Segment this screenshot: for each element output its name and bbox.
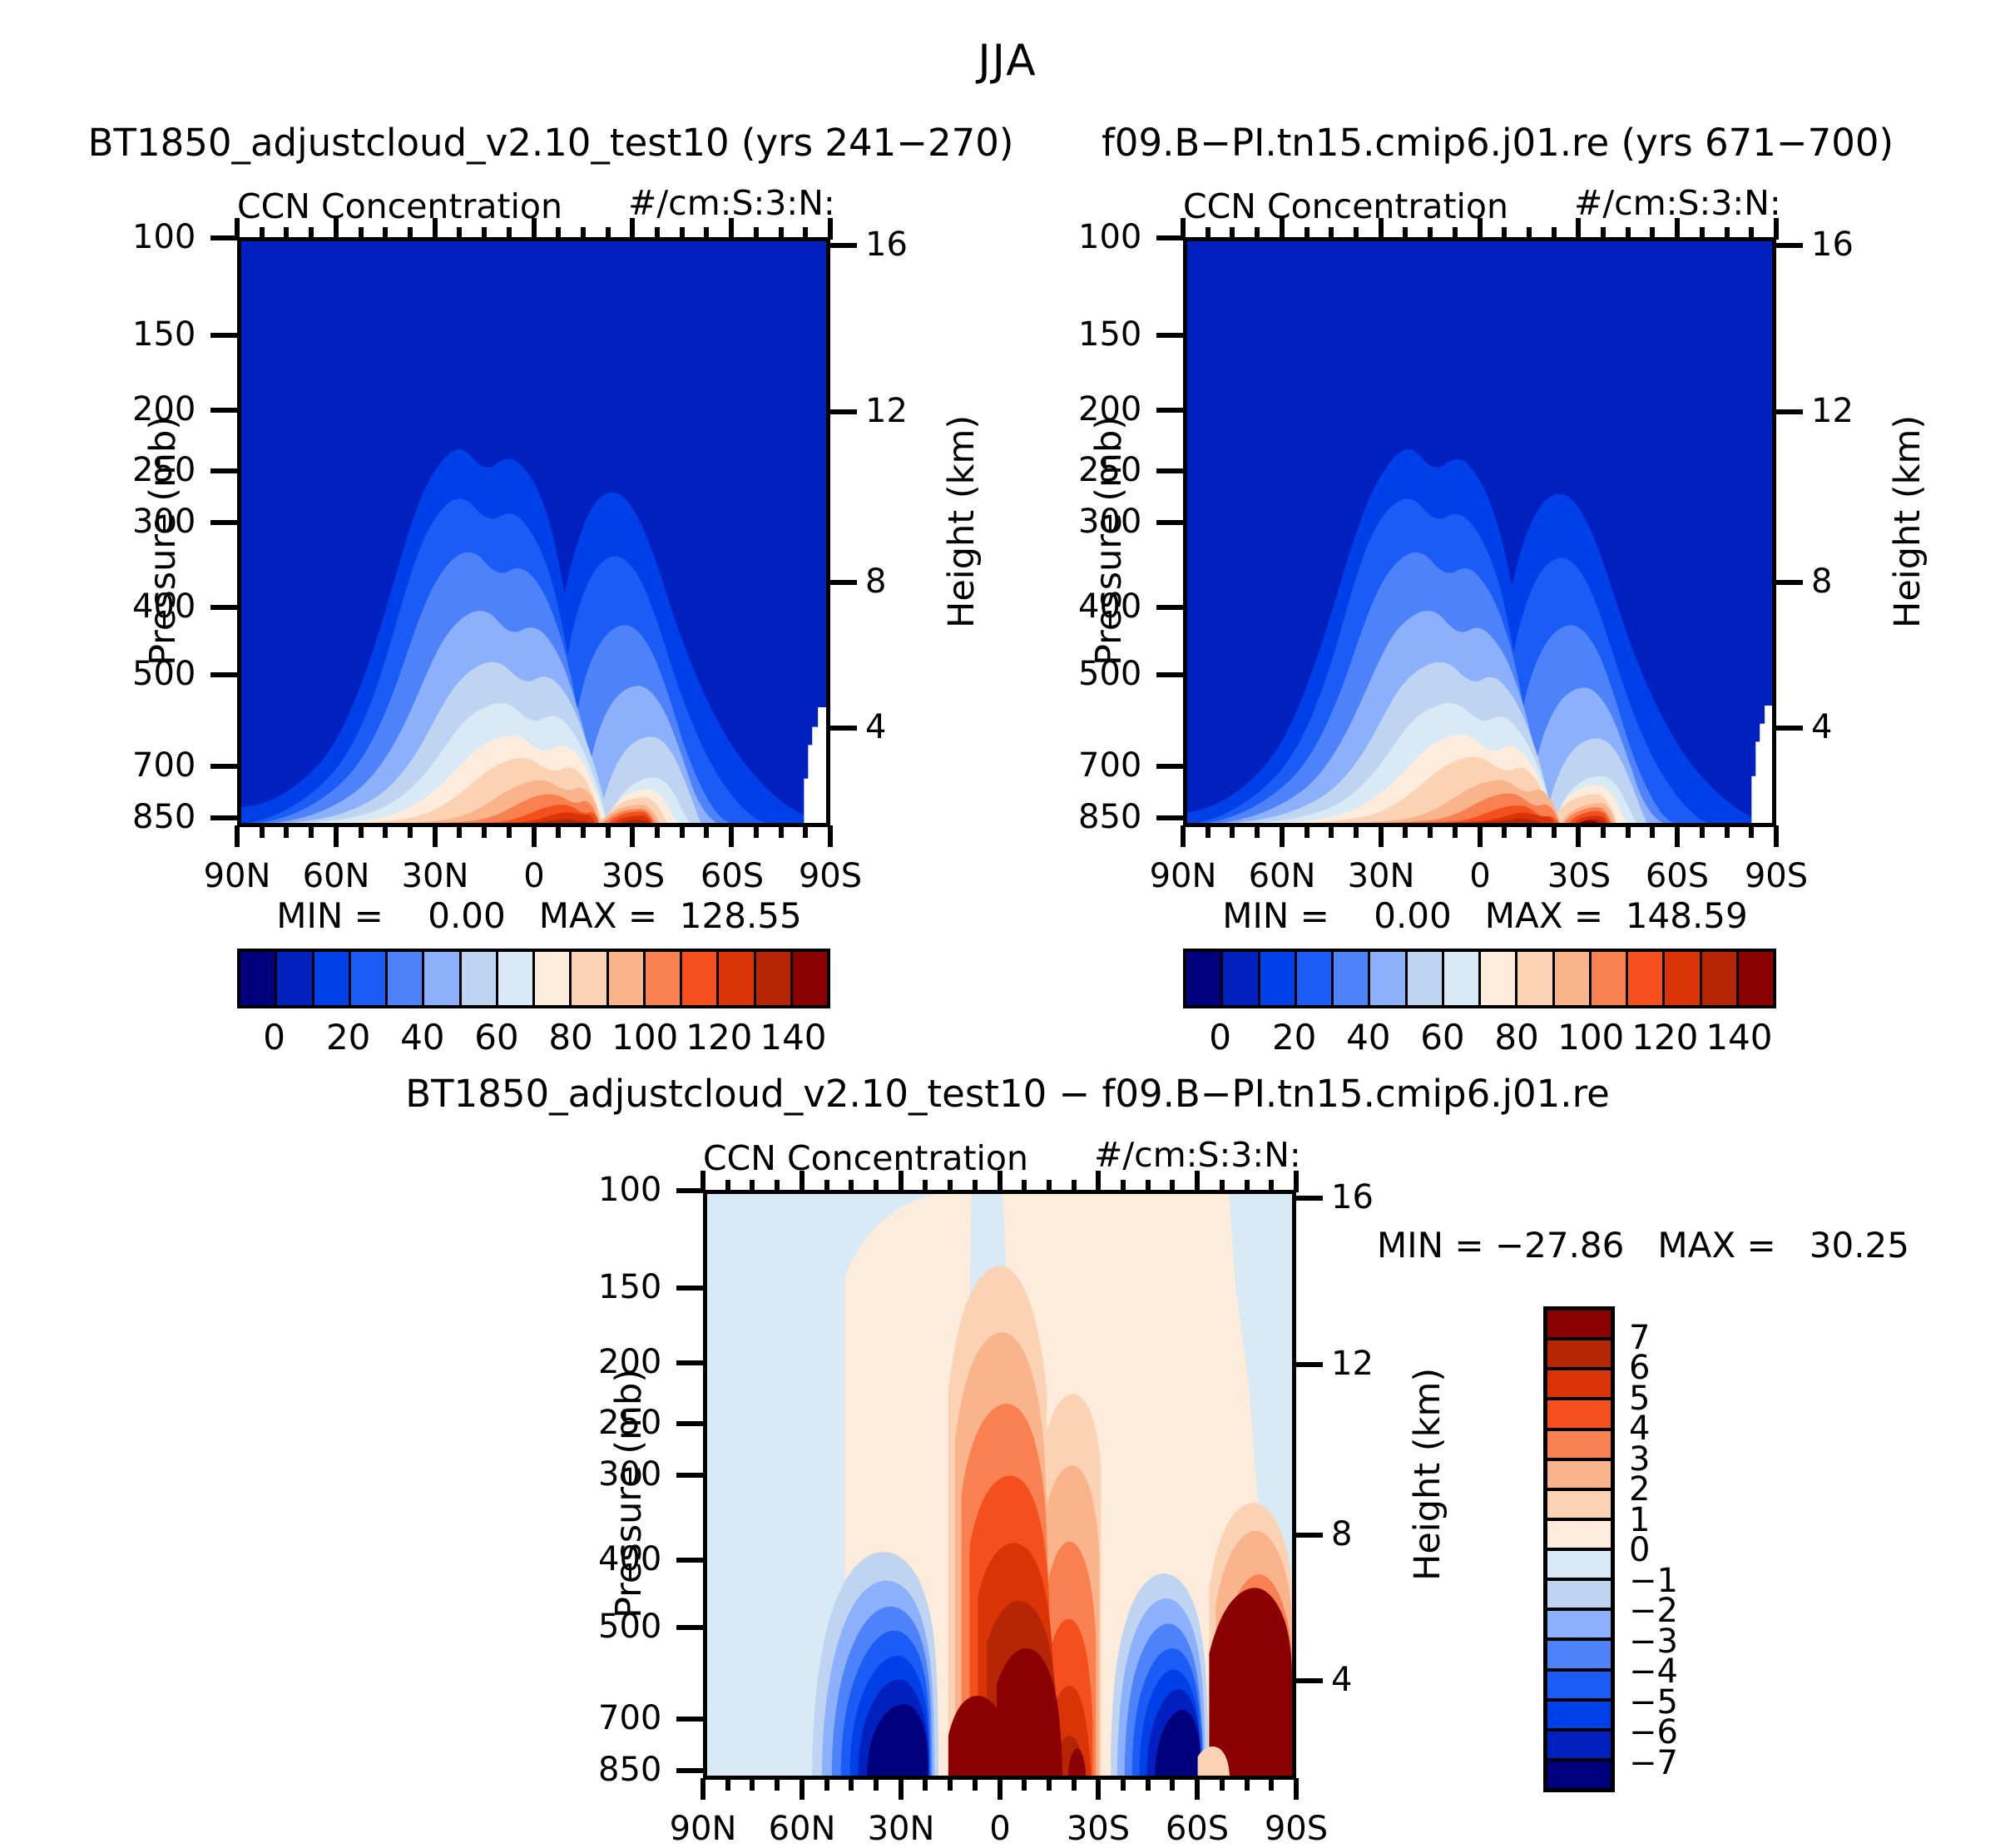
colorbar-diff-swatch[interactable] [1547, 1641, 1611, 1671]
xaxis-right-bottom-minor-tick [1403, 825, 1408, 838]
ytick-diffh-8 [1296, 1533, 1323, 1538]
ylabel-diffh-8: 8 [1331, 1515, 1352, 1553]
colorbar-left-swatch[interactable] [719, 952, 755, 1005]
xaxis-diff-bottom-minor-tick [1220, 1778, 1225, 1791]
ytick-diff-250 [676, 1421, 703, 1426]
xaxis-diff-bottom-minor-tick [1269, 1778, 1274, 1791]
ytick-right2-200 [1156, 408, 1183, 413]
xaxis-left-bottom-major-tick [630, 825, 635, 847]
xaxis-diff-bottom-minor-tick [775, 1778, 780, 1791]
xlabel-right-60S: 60S [1646, 857, 1709, 895]
ytick-left-300 [210, 520, 237, 525]
ylabel-left-300: 300 [132, 503, 169, 541]
colorbar-right-swatch[interactable] [1186, 952, 1223, 1005]
xaxis-diff-bottom-minor-tick [973, 1778, 978, 1791]
plot-panel-left [237, 237, 830, 827]
xaxis-right-bottom-minor-tick [1552, 825, 1557, 838]
ytick-left-850 [210, 815, 237, 820]
xaxis-right-top-minor-tick [1749, 227, 1754, 240]
xaxis-right-top-major-tick [1280, 218, 1285, 240]
xaxis-left-bottom-minor-tick [704, 825, 709, 838]
ytick-right2-850 [1156, 815, 1183, 820]
xaxis-right-top-minor-tick [1428, 227, 1433, 240]
xaxis-right-bottom-minor-tick [1749, 825, 1754, 838]
xaxis-right-bottom-major-tick [1280, 825, 1285, 847]
ylabel-right2-400: 400 [1078, 587, 1115, 626]
xaxis-right-bottom-major-tick [1774, 825, 1779, 847]
xaxis-left-top-minor-tick [754, 227, 759, 240]
ylabel-right2-300: 300 [1078, 503, 1115, 541]
plot-panel-diff [703, 1190, 1296, 1780]
left-variable-label: CCN Concentration [237, 186, 562, 226]
xaxis-left-bottom-major-tick [828, 825, 833, 847]
colorbar-left-swatch[interactable] [756, 952, 793, 1005]
xaxis-left-top-minor-tick [482, 227, 487, 240]
xaxis-diff-top-major-tick [1294, 1171, 1299, 1192]
xlabel-diff-0: 0 [989, 1810, 1010, 1848]
colorbar-diff-swatch[interactable] [1547, 1581, 1611, 1611]
xaxis-left-top-minor-tick [359, 227, 364, 240]
ytick-diff-300 [676, 1473, 703, 1478]
ytick-diff-850 [676, 1768, 703, 1773]
colorbar-diff-swatch[interactable] [1547, 1732, 1611, 1761]
colorbar-right-swatch[interactable] [1334, 952, 1370, 1005]
xaxis-left-top-minor-tick [556, 227, 561, 240]
ylabel-left-250: 250 [132, 451, 169, 489]
xaxis-left-top-major-tick [235, 218, 240, 240]
ytick-right2-150 [1156, 333, 1183, 338]
xaxis-right-top-major-tick [1576, 218, 1581, 240]
ytick-right-12 [830, 409, 857, 414]
xaxis-left-top-minor-tick [309, 227, 314, 240]
xaxis-left-bottom-minor-tick [655, 825, 660, 838]
colorbar-right-tick-label: 120 [1631, 1017, 1698, 1058]
colorbar-left-swatch[interactable] [793, 952, 827, 1005]
ytick-right2-300 [1156, 520, 1183, 525]
xaxis-diff-bottom-minor-tick [725, 1778, 730, 1791]
colorbar-diff-swatch[interactable] [1547, 1310, 1611, 1340]
xaxis-diff-top-minor-tick [923, 1180, 928, 1192]
ylabel-left-150: 150 [132, 315, 169, 354]
xaxis-diff-top-minor-tick [750, 1180, 755, 1192]
ytick-right2-500 [1156, 672, 1183, 677]
colorbar-left-tick-label: 40 [400, 1017, 444, 1058]
right-units-label: #/cm:S:3:N: [1574, 183, 1781, 223]
colorbar-left-swatch[interactable] [314, 952, 351, 1005]
ylabel-right-12: 12 [865, 392, 908, 430]
xaxis-right-bottom-minor-tick [1428, 825, 1433, 838]
ytick-right2-250 [1156, 468, 1183, 473]
xaxis-left-top-minor-tick [383, 227, 388, 240]
xaxis-left-bottom-minor-tick [284, 825, 289, 838]
colorbar-left-swatch[interactable] [277, 952, 314, 1005]
ylabel-left-200: 200 [132, 390, 169, 429]
colorbar-left-swatch[interactable] [462, 952, 498, 1005]
xaxis-right-top-minor-tick [1650, 227, 1655, 240]
xaxis-diff-bottom-minor-tick [849, 1778, 854, 1791]
ytick-right2h-12 [1776, 409, 1803, 414]
ylabel-right2-500: 500 [1078, 655, 1115, 693]
ylabel-left-700: 700 [132, 746, 169, 785]
colorbar-right-swatch[interactable] [1260, 952, 1297, 1005]
xaxis-diff-top-major-tick [800, 1171, 805, 1192]
ytick-left-500 [210, 672, 237, 677]
xaxis-right-bottom-major-tick [1478, 825, 1483, 847]
xaxis-left-bottom-minor-tick [260, 825, 265, 838]
colorbar-diff-swatch[interactable] [1547, 1400, 1611, 1430]
ytick-left-200 [210, 408, 237, 413]
xaxis-diff-top-minor-tick [1170, 1180, 1175, 1192]
xaxis-diff-bottom-major-tick [1195, 1778, 1200, 1800]
xaxis-right-top-minor-tick [1601, 227, 1606, 240]
colorbar-diff[interactable] [1543, 1306, 1615, 1792]
left-contour-field [241, 241, 826, 823]
colorbar-left-swatch[interactable] [535, 952, 572, 1005]
ytick-diffh-12 [1296, 1362, 1323, 1367]
xlabel-diff-60S: 60S [1166, 1810, 1229, 1848]
ytick-left-250 [210, 468, 237, 473]
ytick-diff-100 [676, 1188, 703, 1193]
colorbar-diff-swatch[interactable] [1547, 1461, 1611, 1491]
colorbar-diff-swatch[interactable] [1547, 1761, 1611, 1788]
colorbar-diff-swatch[interactable] [1547, 1611, 1611, 1641]
colorbar-left-swatch[interactable] [609, 952, 646, 1005]
colorbar-right-tick-label: 20 [1272, 1017, 1316, 1058]
xaxis-right-bottom-minor-tick [1650, 825, 1655, 838]
ytick-right2h-16 [1776, 243, 1803, 248]
colorbar-diff-swatch[interactable] [1547, 1702, 1611, 1732]
xaxis-left-top-minor-tick [507, 227, 512, 240]
ylabel-right2h-4: 4 [1811, 708, 1832, 746]
xaxis-diff-top-major-tick [1195, 1171, 1200, 1192]
ylabel-right2-200: 200 [1078, 390, 1115, 429]
xlabel-diff-30S: 30S [1067, 1810, 1130, 1848]
xaxis-diff-bottom-minor-tick [923, 1778, 928, 1791]
right-variable-label: CCN Concentration [1183, 186, 1508, 226]
xaxis-right-bottom-minor-tick [1626, 825, 1631, 838]
xaxis-diff-top-major-tick [998, 1171, 1003, 1192]
xaxis-diff-top-minor-tick [973, 1180, 978, 1192]
ytick-right2-700 [1156, 764, 1183, 769]
diff-minmax: MIN = −27.86 MAX = 30.25 [1377, 1225, 1909, 1266]
xaxis-right-top-minor-tick [1700, 227, 1705, 240]
xaxis-right-bottom-major-tick [1675, 825, 1680, 847]
xaxis-diff-top-minor-tick [1245, 1180, 1250, 1192]
colorbar-left-swatch[interactable] [351, 952, 388, 1005]
colorbar-right-tick-label: 140 [1706, 1017, 1772, 1058]
xaxis-left-top-minor-tick [803, 227, 808, 240]
xaxis-diff-top-minor-tick [948, 1180, 953, 1192]
xaxis-right-top-minor-tick [1502, 227, 1507, 240]
colorbar-right-swatch[interactable] [1592, 952, 1628, 1005]
xaxis-left-bottom-major-tick [334, 825, 339, 847]
xaxis-diff-bottom-minor-tick [874, 1778, 879, 1791]
ylabel-diff-850: 850 [598, 1751, 635, 1789]
xaxis-right-bottom-major-tick [1181, 825, 1186, 847]
xaxis-left-bottom-minor-tick [383, 825, 388, 838]
colorbar-right-tick-label: 40 [1346, 1017, 1390, 1058]
xlabel-left-60S: 60S [701, 857, 764, 895]
left-units-label: #/cm:S:3:N: [628, 183, 835, 223]
xaxis-right-bottom-minor-tick [1305, 825, 1310, 838]
colorbar-left-swatch[interactable] [646, 952, 682, 1005]
xlabel-right-60N: 60N [1249, 857, 1316, 895]
xaxis-diff-top-minor-tick [1121, 1180, 1126, 1192]
diff-variable-label: CCN Concentration [703, 1138, 1028, 1178]
xaxis-left-bottom-major-tick [532, 825, 537, 847]
colorbar-left-swatch[interactable] [572, 952, 608, 1005]
xlabel-diff-90N: 90N [670, 1810, 737, 1848]
xaxis-diff-bottom-major-tick [800, 1778, 805, 1800]
xaxis-diff-bottom-major-tick [1096, 1778, 1101, 1800]
colorbar-right-tick-label: 80 [1494, 1017, 1538, 1058]
ylabel-diffh-12: 12 [1331, 1345, 1374, 1383]
xaxis-diff-bottom-major-tick [899, 1778, 904, 1800]
xaxis-right-top-minor-tick [1305, 227, 1310, 240]
xaxis-diff-bottom-major-tick [701, 1778, 705, 1800]
xlabel-left-90N: 90N [204, 857, 271, 895]
colorbar-left-swatch[interactable] [424, 952, 461, 1005]
colorbar-diff-swatch[interactable] [1547, 1370, 1611, 1400]
colorbar-left-tick-label: 140 [760, 1017, 826, 1058]
xaxis-left-bottom-minor-tick [507, 825, 512, 838]
xaxis-left-bottom-minor-tick [803, 825, 808, 838]
xaxis-diff-bottom-minor-tick [1170, 1778, 1175, 1791]
xaxis-right-bottom-minor-tick [1329, 825, 1334, 838]
colorbar-right-swatch[interactable] [1408, 952, 1444, 1005]
xaxis-left-top-minor-tick [655, 227, 660, 240]
colorbar-right-tick-label: 100 [1557, 1017, 1624, 1058]
left-panel-title: BT1850_adjustcloud_v2.10_test10 (yrs 241… [88, 121, 1014, 165]
xlabel-diff-90S: 90S [1265, 1810, 1328, 1848]
ylabel-right2h-8: 8 [1811, 562, 1832, 601]
colorbar-diff-swatch[interactable] [1547, 1551, 1611, 1581]
ytick-right-4 [830, 726, 857, 731]
ylabel-right2-100: 100 [1078, 218, 1115, 256]
xlabel-left-60N: 60N [303, 857, 370, 895]
ytick-right-16 [830, 243, 857, 248]
xaxis-diff-top-minor-tick [1220, 1180, 1225, 1192]
xlabel-left-30S: 30S [602, 857, 665, 895]
colorbar-right-swatch[interactable] [1517, 952, 1554, 1005]
xaxis-diff-top-minor-tick [1269, 1180, 1274, 1192]
xaxis-left-bottom-minor-tick [754, 825, 759, 838]
ytick-diff-400 [676, 1558, 703, 1563]
ylabel-right-8: 8 [865, 562, 886, 601]
ytick-diff-200 [676, 1360, 703, 1365]
colorbar-diff-swatch[interactable] [1547, 1340, 1611, 1370]
xaxis-left-bottom-minor-tick [408, 825, 413, 838]
xaxis-right-bottom-minor-tick [1230, 825, 1235, 838]
xaxis-diff-bottom-minor-tick [1245, 1778, 1250, 1791]
xaxis-left-top-major-tick [433, 218, 438, 240]
colorbar-left-tick-label: 20 [326, 1017, 370, 1058]
xaxis-left-top-minor-tick [284, 227, 289, 240]
xaxis-right-top-minor-tick [1354, 227, 1359, 240]
ylabel-diffh-4: 4 [1331, 1661, 1352, 1699]
ytick-diff-150 [676, 1286, 703, 1291]
colorbar-right-swatch[interactable] [1297, 952, 1334, 1005]
ylabel-diff-300: 300 [598, 1455, 635, 1494]
xaxis-left-top-major-tick [334, 218, 339, 240]
xaxis-right-bottom-minor-tick [1601, 825, 1606, 838]
colorbar-right-swatch[interactable] [1702, 952, 1739, 1005]
right-contour-field [1187, 241, 1772, 823]
xlabel-left-0: 0 [523, 857, 544, 895]
xaxis-diff-bottom-minor-tick [1072, 1778, 1077, 1791]
xaxis-left-bottom-minor-tick [556, 825, 561, 838]
ytick-diff-500 [676, 1625, 703, 1630]
colorbar-diff-swatch[interactable] [1547, 1431, 1611, 1461]
xaxis-right-top-minor-tick [1552, 227, 1557, 240]
diff-units-label: #/cm:S:3:N: [1094, 1135, 1301, 1175]
colorbar-diff-tick-label: −7 [1629, 1744, 1678, 1782]
ytick-right2-400 [1156, 605, 1183, 610]
ytick-right2h-4 [1776, 726, 1803, 731]
colorbar-left-tick-label: 120 [686, 1017, 752, 1058]
ylabel-diffh-16: 16 [1331, 1178, 1374, 1216]
ytick-right2h-8 [1776, 580, 1803, 585]
ylabel-diff-100: 100 [598, 1171, 635, 1209]
figure-canvas: JJA BT1850_adjustcloud_v2.10_test10 (yrs… [0, 0, 2015, 1833]
xaxis-left-bottom-minor-tick [482, 825, 487, 838]
xaxis-diff-top-minor-tick [874, 1180, 879, 1192]
right-minmax: MIN = 0.00 MAX = 148.59 [1222, 895, 1748, 936]
xlabel-right-0: 0 [1469, 857, 1490, 895]
xlabel-left-30N: 30N [402, 857, 469, 895]
xaxis-right-bottom-major-tick [1576, 825, 1581, 847]
xlabel-right-90S: 90S [1745, 857, 1808, 895]
xaxis-diff-bottom-minor-tick [750, 1778, 755, 1791]
ylabel-diff-250: 250 [598, 1404, 635, 1442]
ylabel-left-850: 850 [132, 798, 169, 836]
xaxis-left-top-minor-tick [260, 227, 265, 240]
ytick-diffh-4 [1296, 1678, 1323, 1683]
ylabel-right2-850: 850 [1078, 798, 1115, 836]
right-panel-title: f09.B−PI.tn15.cmip6.j01.re (yrs 671−700) [1102, 121, 1894, 165]
xaxis-diff-bottom-minor-tick [1121, 1778, 1126, 1791]
diff-contour-field [707, 1194, 1292, 1776]
xaxis-right-bottom-minor-tick [1725, 825, 1730, 838]
colorbar-diff-swatch[interactable] [1547, 1521, 1611, 1551]
xaxis-left-top-minor-tick [606, 227, 611, 240]
xaxis-diff-top-minor-tick [775, 1180, 780, 1192]
xaxis-diff-bottom-minor-tick [1022, 1778, 1027, 1791]
colorbar-right-swatch[interactable] [1370, 952, 1407, 1005]
xaxis-right-top-minor-tick [1403, 227, 1408, 240]
ylabel-left-400: 400 [132, 587, 169, 626]
xaxis-diff-top-major-tick [899, 1171, 904, 1192]
xaxis-diff-bottom-major-tick [998, 1778, 1003, 1800]
xlabel-right-90N: 90N [1150, 857, 1217, 895]
xaxis-diff-bottom-major-tick [1294, 1778, 1299, 1800]
ytick-diffh-16 [1296, 1196, 1323, 1201]
xaxis-right-top-minor-tick [1527, 227, 1532, 240]
xlabel-diff-60N: 60N [769, 1810, 836, 1848]
xaxis-left-bottom-minor-tick [606, 825, 611, 838]
xaxis-diff-bottom-minor-tick [948, 1778, 953, 1791]
colorbar-left-swatch[interactable] [388, 952, 424, 1005]
season-title: JJA [978, 36, 1037, 86]
colorbar-right-swatch[interactable] [1444, 952, 1481, 1005]
xlabel-right-30S: 30S [1547, 857, 1611, 895]
xaxis-diff-top-minor-tick [1022, 1180, 1027, 1192]
colorbar-left-swatch[interactable] [682, 952, 719, 1005]
xaxis-diff-top-minor-tick [1047, 1180, 1052, 1192]
xaxis-right-top-major-tick [1181, 218, 1186, 240]
diff-ylabel-height: Height (km) [1407, 1368, 1448, 1581]
ylabel-right2-250: 250 [1078, 451, 1115, 489]
xaxis-left-top-minor-tick [457, 227, 462, 240]
colorbar-right-tick-label: 0 [1209, 1017, 1231, 1058]
colorbar-left-swatch[interactable] [240, 952, 277, 1005]
xaxis-left-bottom-minor-tick [779, 825, 784, 838]
xaxis-diff-top-minor-tick [1146, 1180, 1151, 1192]
left-ylabel-height: Height (km) [941, 415, 983, 628]
colorbar-left-swatch[interactable] [498, 952, 535, 1005]
ylabel-right-4: 4 [865, 708, 886, 746]
colorbar-right-swatch[interactable] [1628, 952, 1665, 1005]
xaxis-left-bottom-minor-tick [309, 825, 314, 838]
xaxis-left-top-minor-tick [779, 227, 784, 240]
xaxis-right-top-minor-tick [1206, 227, 1210, 240]
xaxis-left-top-major-tick [630, 218, 635, 240]
xaxis-right-top-minor-tick [1255, 227, 1260, 240]
colorbar-right-tick-label: 60 [1420, 1017, 1464, 1058]
xaxis-right-bottom-minor-tick [1453, 825, 1458, 838]
colorbar-right-swatch[interactable] [1555, 952, 1592, 1005]
diff-panel-title: BT1850_adjustcloud_v2.10_test10 − f09.B−… [405, 1072, 1610, 1116]
colorbar-diff-swatch[interactable] [1547, 1672, 1611, 1702]
ylabel-diff-400: 400 [598, 1540, 635, 1578]
xaxis-left-top-minor-tick [680, 227, 685, 240]
xlabel-left-90S: 90S [799, 857, 862, 895]
xaxis-diff-top-minor-tick [1072, 1180, 1077, 1192]
colorbar-left-tick-label: 0 [263, 1017, 285, 1058]
ylabel-right-16: 16 [865, 225, 908, 264]
xaxis-diff-bottom-minor-tick [1146, 1778, 1151, 1791]
xaxis-right-top-minor-tick [1725, 227, 1730, 240]
xaxis-left-bottom-minor-tick [581, 825, 586, 838]
colorbar-right[interactable] [1183, 949, 1776, 1008]
ylabel-right2h-16: 16 [1811, 225, 1854, 264]
ytick-diff-700 [676, 1717, 703, 1722]
colorbar-right-swatch[interactable] [1665, 952, 1701, 1005]
xaxis-diff-bottom-minor-tick [824, 1778, 829, 1791]
xaxis-left-top-major-tick [532, 218, 537, 240]
xaxis-diff-top-major-tick [1096, 1171, 1101, 1192]
xaxis-right-bottom-minor-tick [1206, 825, 1210, 838]
xaxis-right-top-minor-tick [1453, 227, 1458, 240]
xaxis-diff-top-minor-tick [824, 1180, 829, 1192]
colorbar-right-swatch[interactable] [1223, 952, 1260, 1005]
colorbar-right-swatch[interactable] [1481, 952, 1517, 1005]
ytick-right2-100 [1156, 235, 1183, 240]
xaxis-right-top-minor-tick [1626, 227, 1631, 240]
xaxis-right-top-minor-tick [1230, 227, 1235, 240]
colorbar-diff-swatch[interactable] [1547, 1491, 1611, 1521]
xaxis-left-top-minor-tick [581, 227, 586, 240]
ylabel-right2h-12: 12 [1811, 392, 1854, 430]
ytick-left-700 [210, 764, 237, 769]
right-ylabel-height: Height (km) [1887, 415, 1928, 628]
xaxis-diff-top-minor-tick [725, 1180, 730, 1192]
colorbar-left[interactable] [237, 949, 830, 1008]
colorbar-right-swatch[interactable] [1739, 952, 1773, 1005]
xaxis-left-bottom-major-tick [235, 825, 240, 847]
colorbar-left-tick-label: 100 [611, 1017, 678, 1058]
xaxis-right-bottom-minor-tick [1502, 825, 1507, 838]
